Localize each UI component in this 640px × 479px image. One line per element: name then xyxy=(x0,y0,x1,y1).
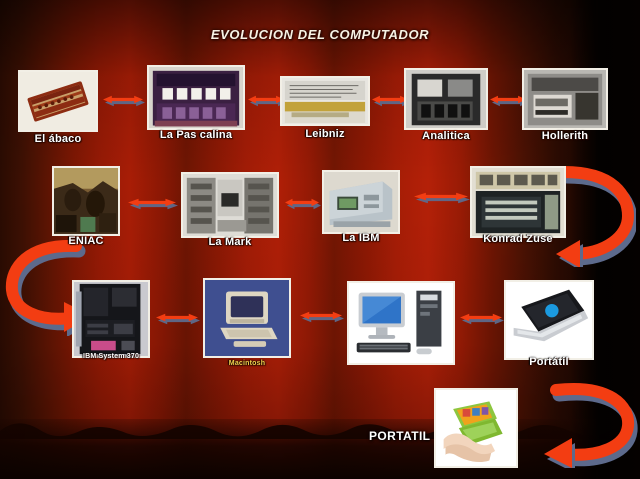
node-hollerith[interactable]: Hollerith xyxy=(522,68,608,146)
arrow-370-macintosh xyxy=(156,312,198,326)
laptop-photo xyxy=(504,280,594,360)
eniac-photo xyxy=(52,166,120,236)
ibm-mainframe-photo xyxy=(322,170,400,234)
label-portatil: Portátil xyxy=(529,356,569,368)
node-konrad-zuse[interactable]: Konrad Zuse xyxy=(470,166,566,244)
abacus-photo xyxy=(18,70,98,132)
node-analitica[interactable]: Analitica xyxy=(404,68,488,146)
node-mark[interactable]: La Mark xyxy=(181,172,279,250)
label-ibm: La IBM xyxy=(342,232,379,244)
label-mark: La Mark xyxy=(209,236,252,248)
handheld-device-photo xyxy=(434,388,518,468)
konrad-zuse-machine-photo xyxy=(470,166,566,238)
node-desktop-pc[interactable] xyxy=(347,281,455,365)
label-hollerith: Hollerith xyxy=(542,130,588,142)
arrow-leibniz-analitica xyxy=(372,94,408,108)
node-macintosh[interactable]: Macintosh xyxy=(203,278,291,366)
label-leibniz: Leibniz xyxy=(305,128,344,140)
arrow-abaco-pascalina xyxy=(103,94,143,108)
hollerith-tabulator-photo xyxy=(522,68,608,130)
node-abaco[interactable]: El ábaco xyxy=(18,70,98,145)
macintosh-photo xyxy=(203,278,291,358)
leibniz-machine-photo xyxy=(280,76,370,126)
curve-row1-to-row2 xyxy=(556,162,636,267)
node-pascalina[interactable]: La Pas calina xyxy=(147,65,245,145)
arrow-analitica-hollerith xyxy=(490,94,526,108)
pascaline-photo xyxy=(147,65,245,130)
mark-i-photo xyxy=(181,172,279,238)
arrow-ibm-zuse xyxy=(414,191,468,205)
analytical-engine-photo xyxy=(404,68,488,130)
label-macintosh: Macintosh xyxy=(229,360,265,367)
ibm-system-370-photo xyxy=(72,280,150,358)
label-eniac: ENIAC xyxy=(68,235,103,247)
node-handheld-portatil[interactable] xyxy=(434,388,518,468)
label-pascalina: La Pas calina xyxy=(160,129,232,141)
node-leibniz[interactable]: Leibniz xyxy=(280,76,370,146)
curve-row3-to-row4 xyxy=(538,378,638,468)
node-portatil[interactable]: Portátil xyxy=(504,280,594,368)
desktop-pc-photo xyxy=(347,281,455,365)
label-konrad-zuse: Konrad Zuse xyxy=(483,233,552,245)
node-eniac[interactable]: ENIAC xyxy=(52,166,120,244)
arrow-eniac-mark xyxy=(128,197,176,211)
page-title: EVOLUCION DEL COMPUTADOR xyxy=(0,27,640,42)
presentation-slide: EVOLUCION DEL COMPUTADOR xyxy=(0,0,640,479)
node-ibm-system-370[interactable]: IBM System 370 xyxy=(72,280,150,366)
label-abaco: El ábaco xyxy=(35,133,82,145)
arrow-desktop-portatil xyxy=(460,312,502,326)
label-portatil-bottom: PORTATIL xyxy=(369,429,430,443)
arrow-mark-ibm xyxy=(285,197,319,211)
label-analitica: Analitica xyxy=(422,130,470,142)
arrow-macintosh-desktop xyxy=(300,310,342,324)
label-ibm-system-370: IBM System 370 xyxy=(83,353,139,360)
node-ibm[interactable]: La IBM xyxy=(322,170,400,248)
arrow-pascalina-leibniz xyxy=(248,94,284,108)
